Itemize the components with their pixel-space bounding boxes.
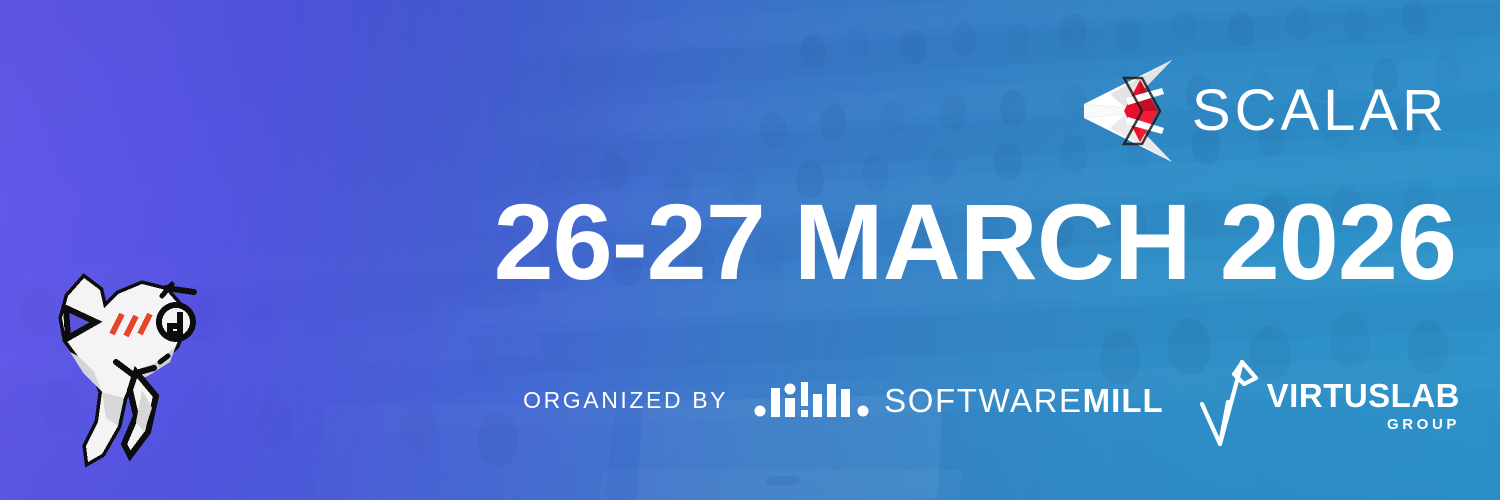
organized-by-label: ORGANIZED BY bbox=[523, 387, 728, 414]
organizers-row: ORGANIZED BY bbox=[523, 356, 1460, 444]
scalar-conference-banner: SCALAR 26-27 MARCH 2026 ORGANIZED BY bbox=[0, 0, 1500, 500]
softwaremill-logo[interactable]: SOFTWAREMILL bbox=[754, 382, 1164, 418]
softwaremill-name-light: SOFTWARE bbox=[884, 382, 1083, 419]
virtuslab-name: VIRTUSLAB bbox=[1267, 379, 1460, 412]
softwaremill-name-bold: MILL bbox=[1083, 382, 1164, 419]
virtuslab-subtitle: GROUP bbox=[1387, 417, 1460, 432]
softwaremill-bars-icon bbox=[754, 382, 870, 418]
softwaremill-wordmark: SOFTWAREMILL bbox=[884, 384, 1164, 417]
scalar-arrow-mark-icon bbox=[1080, 58, 1176, 164]
virtuslab-text: VIRTUSLAB GROUP bbox=[1267, 379, 1460, 444]
virtuslab-logo[interactable]: VIRTUSLAB GROUP bbox=[1198, 356, 1460, 444]
scala-fish-mascot-icon bbox=[44, 250, 224, 472]
scalar-logo[interactable]: SCALAR bbox=[1080, 58, 1448, 164]
scalar-wordmark: SCALAR bbox=[1192, 82, 1448, 140]
virtuslab-v-mark-icon bbox=[1198, 356, 1260, 448]
